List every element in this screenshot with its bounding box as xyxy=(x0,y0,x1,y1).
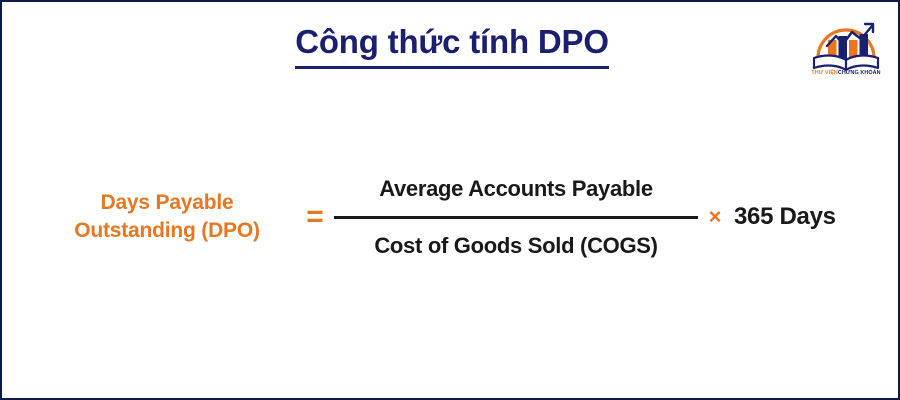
brand-logo-text: THƯ VIỆNCHỨNG KHOÁN xyxy=(810,70,882,76)
brand-logo[interactable]: THƯ VIỆNCHỨNG KHOÁN xyxy=(810,14,882,86)
page-title: Công thức tính DPO xyxy=(2,24,900,69)
formula-infographic: Công thức tính DPO THƯ VIỆNCHỨNG KHOÁN D… xyxy=(0,0,900,400)
fraction-numerator: Average Accounts Payable xyxy=(334,176,698,216)
page-title-text: Công thức tính DPO xyxy=(295,24,609,69)
dpo-formula: Days Payable Outstanding (DPO) = Average… xyxy=(2,152,900,282)
formula-left-label-line-1: Days Payable xyxy=(100,189,233,217)
library-stock-chart-book-icon xyxy=(810,14,882,72)
formula-fraction: Average Accounts Payable Cost of Goods S… xyxy=(334,152,698,282)
brand-logo-text-primary: THƯ VIỆN xyxy=(811,70,838,76)
fraction-denominator: Cost of Goods Sold (COGS) xyxy=(334,219,698,259)
formula-left-label-line-2: Outstanding (DPO) xyxy=(74,217,260,245)
multiply-sign: × xyxy=(702,152,728,282)
brand-logo-text-secondary: CHỨNG KHOÁN xyxy=(838,70,881,76)
formula-multiplier: 365 Days xyxy=(734,152,836,282)
equals-sign: = xyxy=(298,152,332,282)
formula-left-label: Days Payable Outstanding (DPO) xyxy=(42,152,292,282)
